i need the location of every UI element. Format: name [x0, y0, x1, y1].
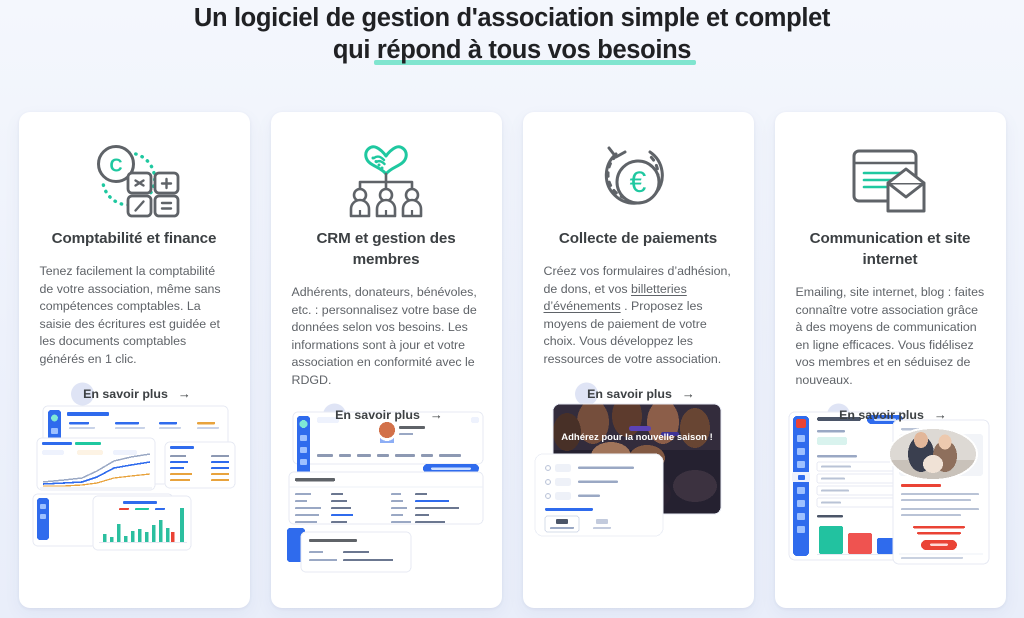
- svg-text:Adhérez pour la nouvelle saiso: Adhérez pour la nouvelle saison !: [561, 432, 713, 443]
- feature-card-comptabilite[interactable]: C Comptabilité et finance Tenez facileme…: [19, 112, 250, 608]
- learn-more-label: En savoir plus: [83, 387, 168, 401]
- arrow-right-icon: →: [934, 407, 947, 422]
- hero-section: Un logiciel de gestion d'association sim…: [0, 0, 1024, 66]
- card-description: Tenez facilement la comptabilité de votr…: [40, 263, 229, 368]
- svg-text:C: C: [110, 156, 123, 176]
- page-title: Un logiciel de gestion d'association sim…: [0, 2, 1024, 66]
- learn-more-label: En savoir plus: [335, 408, 420, 422]
- svg-text:€: €: [630, 166, 647, 199]
- euro-refresh-icon: €: [594, 136, 682, 228]
- emailing-campaign-screenshot: [775, 398, 1006, 608]
- feature-cards-row: C Comptabilité et finance Tenez facileme…: [0, 112, 1024, 608]
- card-title: Communication et site internet: [796, 228, 985, 270]
- card-description: Créez vos formulaires d’adhésion, de don…: [544, 263, 733, 368]
- card-description: Adhérents, donateurs, bénévoles, etc. : …: [292, 284, 481, 389]
- browser-envelope-icon: [844, 136, 936, 228]
- learn-more-label: En savoir plus: [587, 387, 672, 401]
- arrow-right-icon: →: [682, 386, 695, 401]
- card-description: Emailing, site internet, blog : faites c…: [796, 284, 985, 389]
- page-title-highlight: répond à tous vos besoins: [377, 34, 691, 66]
- finance-dashboard-screenshot: [19, 398, 250, 608]
- card-title: Collecte de paiements: [559, 228, 717, 249]
- calculator-euro-icon: C: [85, 136, 183, 228]
- arrow-right-icon: →: [430, 407, 443, 422]
- page-title-line-2-prefix: qui: [333, 36, 377, 64]
- page-title-line-1: Un logiciel de gestion d'association sim…: [194, 4, 830, 32]
- card-title: Comptabilité et finance: [52, 228, 217, 249]
- page-title-highlight-text: répond à tous vos besoins: [377, 36, 691, 64]
- learn-more-label: En savoir plus: [839, 408, 924, 422]
- feature-card-communication[interactable]: Communication et site internet Emailing,…: [775, 112, 1006, 608]
- feature-card-crm[interactable]: CRM et gestion des membres Adhérents, do…: [271, 112, 502, 608]
- card-title: CRM et gestion des membres: [292, 228, 481, 270]
- payment-form-screenshot: Adhérez pour la nouvelle saison !: [523, 398, 754, 608]
- arrow-right-icon: →: [178, 386, 191, 401]
- handshake-heart-org-icon: [340, 136, 432, 228]
- feature-card-paiements[interactable]: € Collecte de paiements Créez vos formul…: [523, 112, 754, 608]
- member-profile-screenshot: [271, 398, 502, 608]
